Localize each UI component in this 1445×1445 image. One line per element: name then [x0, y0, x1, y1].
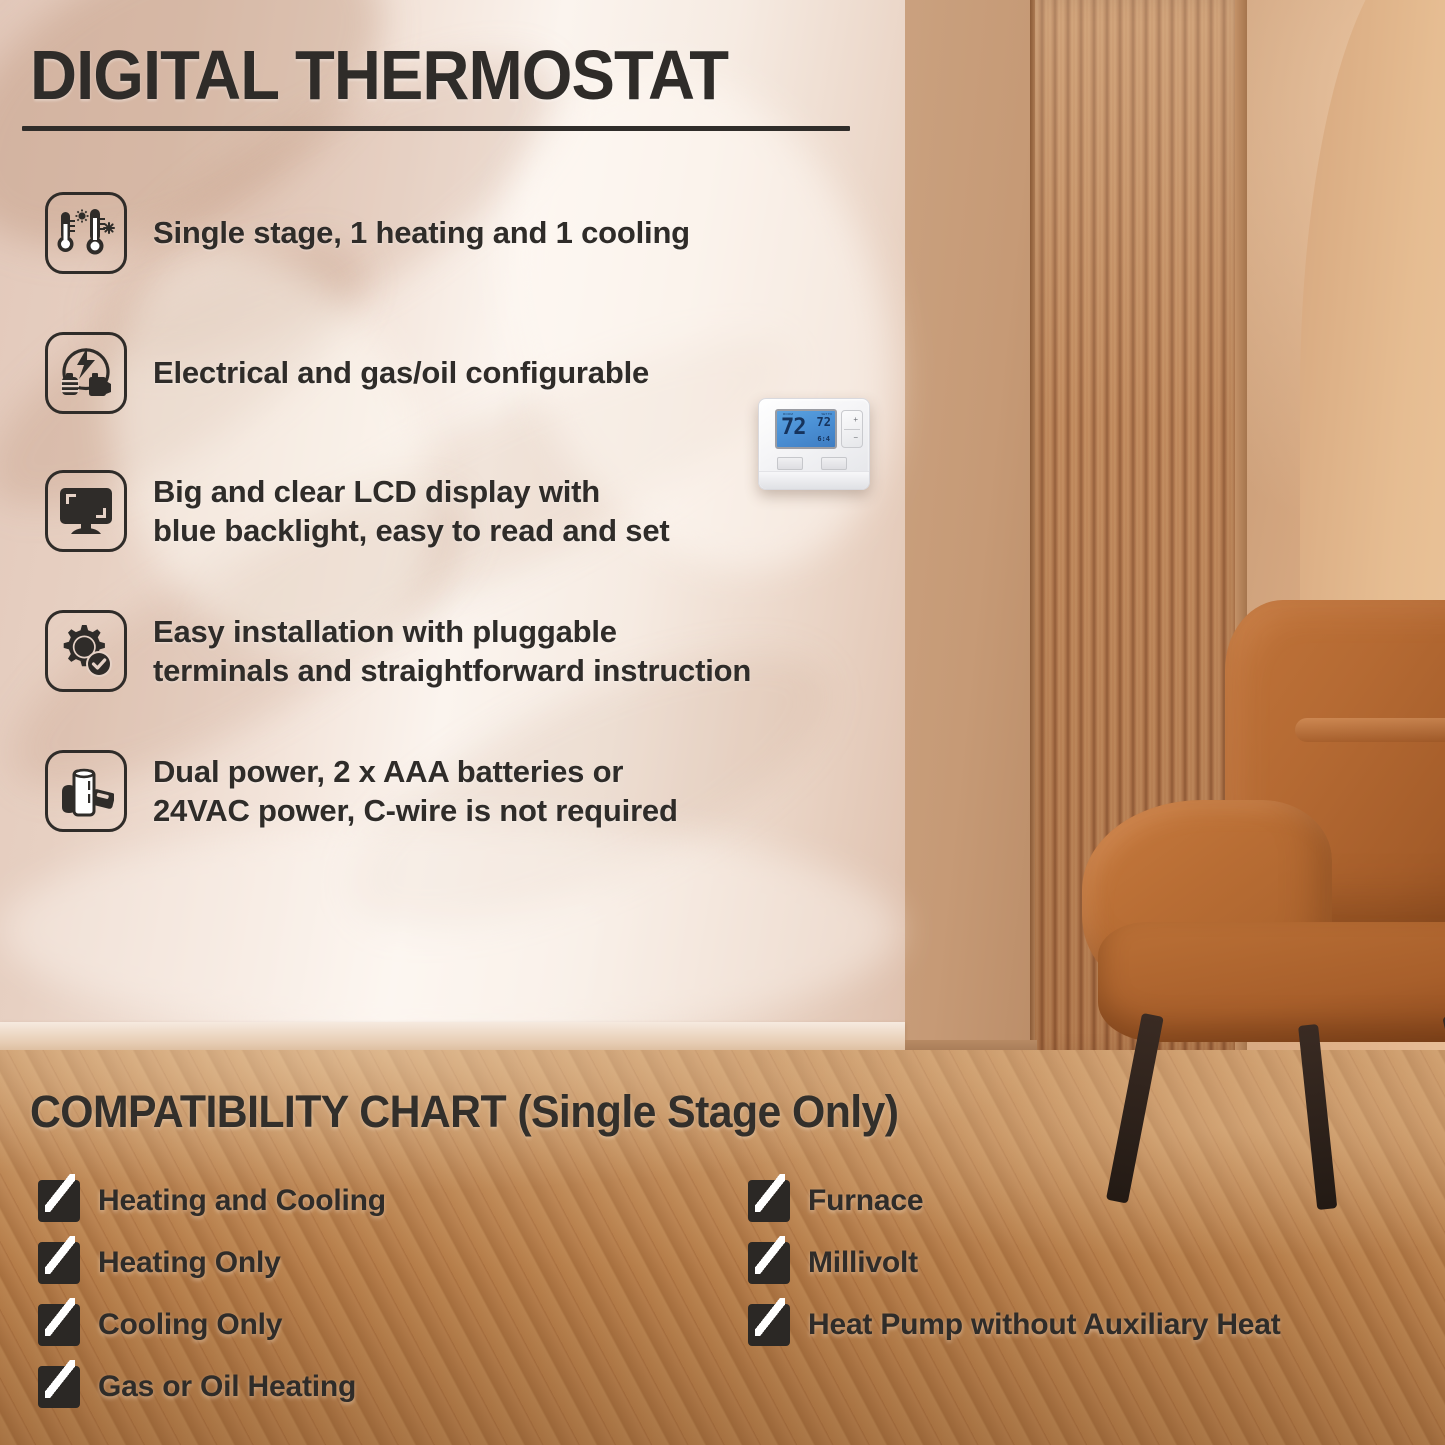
compat-item: Cooling Only [38, 1294, 386, 1356]
feature-text: Single stage, 1 heating and 1 cooling [153, 213, 690, 252]
checkmark-icon [38, 1304, 80, 1346]
feature-line: Big and clear LCD display with [153, 472, 670, 511]
compat-item-label: Furnace [808, 1184, 923, 1218]
compat-item: Furnace [748, 1170, 1281, 1232]
feature-text: Big and clear LCD display with blue back… [153, 472, 670, 550]
compat-item-label: Gas or Oil Heating [98, 1370, 356, 1404]
compat-item: Heating Only [38, 1232, 386, 1294]
gear-check-icon [45, 610, 127, 692]
feature-text: Dual power, 2 x AAA batteries or 24VAC p… [153, 752, 678, 830]
compat-item-label: Heating Only [98, 1246, 281, 1280]
checkmark-icon [748, 1242, 790, 1284]
compat-item-label: Millivolt [808, 1246, 918, 1280]
feature-line: Single stage, 1 heating and 1 cooling [153, 213, 690, 252]
feature-text: Electrical and gas/oil configurable [153, 353, 649, 392]
compat-item-label: Cooling Only [98, 1308, 282, 1342]
feature-line: blue backlight, easy to read and set [153, 511, 670, 550]
compat-item-label: Heating and Cooling [98, 1184, 386, 1218]
compat-item: Heating and Cooling [38, 1170, 386, 1232]
checkmark-icon [38, 1242, 80, 1284]
batteries-icon [45, 750, 127, 832]
feature-line: Electrical and gas/oil configurable [153, 353, 649, 392]
feature-text: Easy installation with pluggable termina… [153, 612, 751, 690]
checkmark-icon [38, 1180, 80, 1222]
compat-item: Millivolt [748, 1232, 1281, 1294]
compat-item-label: Heat Pump without Auxiliary Heat [808, 1308, 1281, 1342]
checkmark-icon [748, 1180, 790, 1222]
feature-row: Dual power, 2 x AAA batteries or 24VAC p… [45, 750, 678, 832]
feature-row: Electrical and gas/oil configurable [45, 332, 649, 414]
feature-line: Easy installation with pluggable [153, 612, 751, 651]
compatibility-right-column: Furnace Millivolt Heat Pump without Auxi… [748, 1170, 1281, 1356]
compat-item: Heat Pump without Auxiliary Heat [748, 1294, 1281, 1356]
feature-line: terminals and straightforward instructio… [153, 651, 751, 690]
compat-item: Gas or Oil Heating [38, 1356, 386, 1418]
feature-row: Big and clear LCD display with blue back… [45, 470, 670, 552]
feature-row: Single stage, 1 heating and 1 cooling [45, 192, 690, 274]
lcd-monitor-icon [45, 470, 127, 552]
thermometer-hot-cold-icon [45, 192, 127, 274]
feature-line: Dual power, 2 x AAA batteries or [153, 752, 678, 791]
checkmark-icon [38, 1366, 80, 1408]
feature-line: 24VAC power, C-wire is not required [153, 791, 678, 830]
page-title: DIGITAL THERMOSTAT [30, 40, 728, 110]
checkmark-icon [748, 1304, 790, 1346]
gas-oil-electric-icon [45, 332, 127, 414]
title-underline-rule [22, 126, 850, 131]
compatibility-chart-title: COMPATIBILITY CHART (Single Stage Only) [30, 1086, 898, 1138]
infographic-canvas: ROOM SET TO 72 72 6:4 + − ON/OFF AUTO CO… [0, 0, 1445, 1445]
infographic-overlay: DIGITAL THERMOSTAT [0, 0, 1445, 1445]
compatibility-left-column: Heating and Cooling Heating Only Cooling… [38, 1170, 386, 1418]
feature-row: Easy installation with pluggable termina… [45, 610, 751, 692]
